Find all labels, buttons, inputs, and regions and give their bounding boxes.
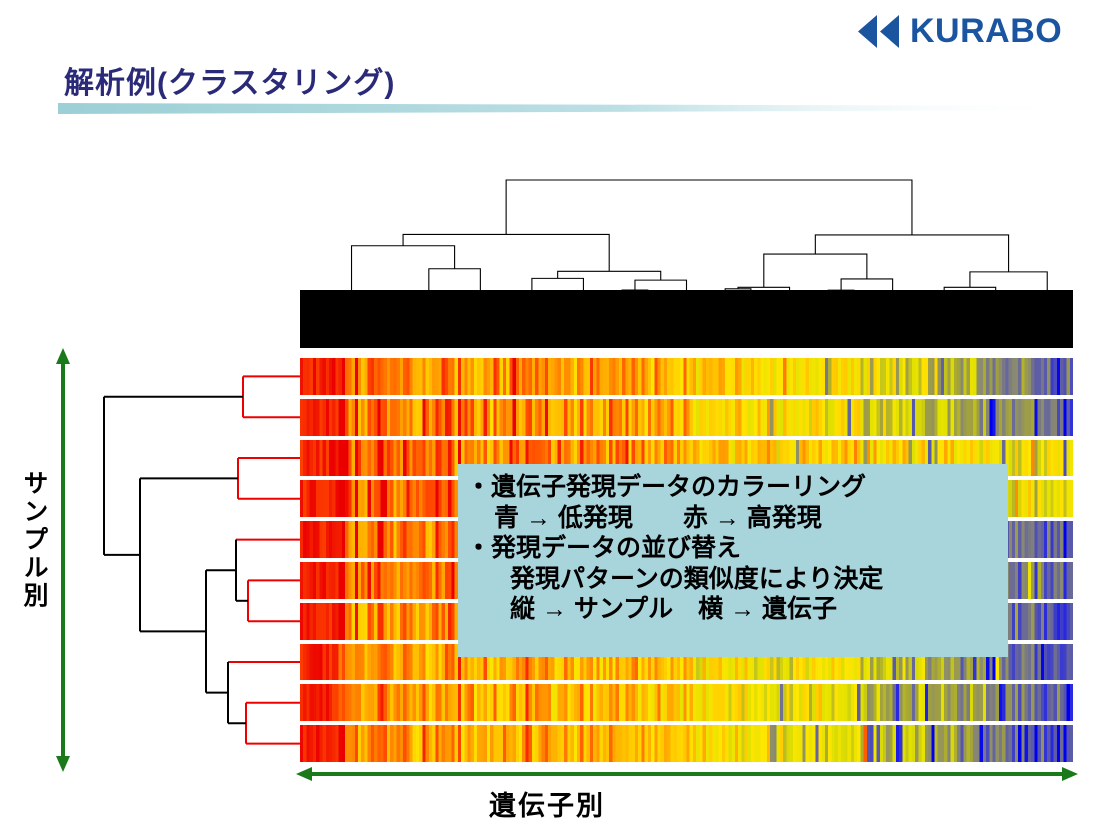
sample-dendrogram [88, 358, 300, 762]
callout-line: 縦 → サンプル 横 → 遺伝子 [466, 594, 1008, 625]
heatmap-row-canvas [300, 725, 1073, 762]
heatmap-row [300, 399, 1073, 436]
sample-axis-arrow [52, 348, 74, 772]
callout-box: ・遺伝子発現データのカラーリング青 → 低発現 赤 → 高発現・発現データの並び… [458, 464, 1008, 657]
sample-axis-label: サンプル別 [12, 470, 46, 610]
callout-line: 青 → 低発現 赤 → 高発現 [466, 503, 1008, 534]
heatmap-row-canvas [300, 358, 1073, 395]
clustering-figure: サンプル別 遺伝子別 ・遺伝子発現データのカラーリング青 → 低発現 赤 → 高… [0, 0, 1094, 819]
callout-line: 発現パターンの類似度により決定 [466, 564, 1008, 595]
gene-dendrogram-dense-mass [300, 290, 1073, 348]
gene-dendrogram [300, 178, 1073, 348]
gene-axis-arrow [296, 765, 1078, 783]
heatmap-row [300, 725, 1073, 762]
heatmap-row [300, 684, 1073, 721]
heatmap-row-canvas [300, 399, 1073, 436]
heatmap-row [300, 358, 1073, 395]
gene-axis-label: 遺伝子別 [0, 784, 1094, 823]
callout-line: ・遺伝子発現データのカラーリング [466, 472, 1008, 503]
callout-line: ・発現データの並び替え [466, 533, 1008, 564]
heatmap-row-canvas [300, 684, 1073, 721]
